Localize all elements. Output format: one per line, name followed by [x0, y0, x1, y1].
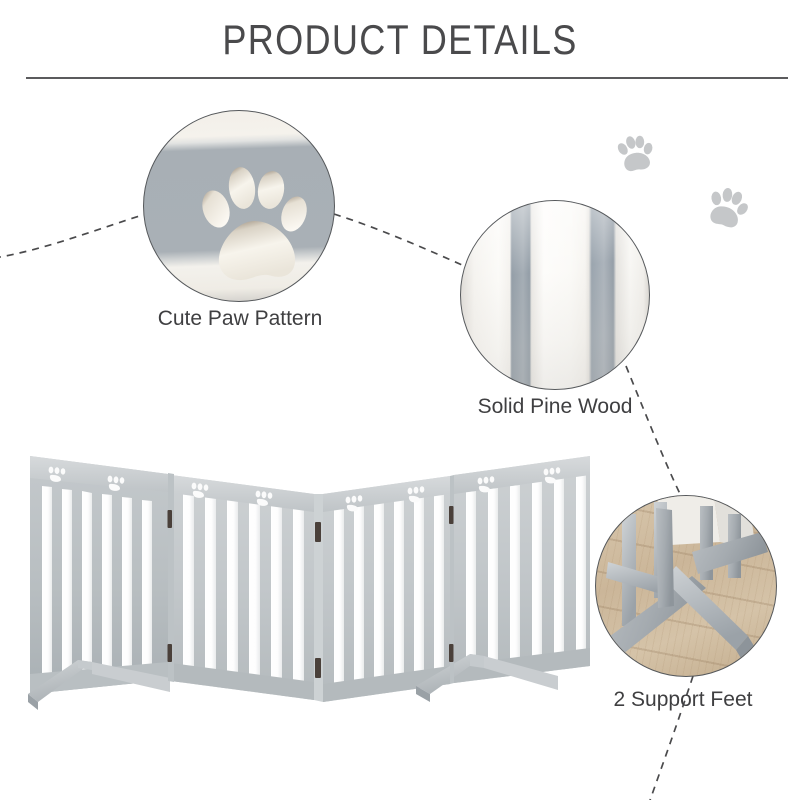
product-photo-pet-gate — [18, 448, 628, 748]
connector-paw-to-wood — [334, 214, 462, 265]
callout-image-solid-pine-wood — [460, 200, 650, 390]
wood-sheen-overlay — [461, 201, 649, 389]
paw-cutout-shape — [144, 111, 335, 302]
callout-label-cute-paw-pattern: Cute Paw Pattern — [152, 307, 328, 331]
paw-print-icon — [700, 183, 752, 235]
hinge-column-1 — [168, 473, 175, 682]
gate-panel-3 — [323, 476, 450, 702]
hinge-column-2 — [314, 494, 323, 702]
gate-panel-2 — [171, 475, 314, 700]
connector-left-to-paw — [0, 214, 146, 258]
callout-image-cute-paw-pattern — [143, 110, 335, 302]
page-title: PRODUCT DETAILS — [56, 16, 744, 63]
callout-label-solid-pine-wood: Solid Pine Wood — [467, 395, 643, 419]
header-divider — [26, 77, 788, 79]
gate-panel-1 — [28, 456, 170, 710]
paw-print-icon — [611, 131, 659, 179]
product-details-infographic: PRODUCT DETAILS — [0, 0, 800, 800]
